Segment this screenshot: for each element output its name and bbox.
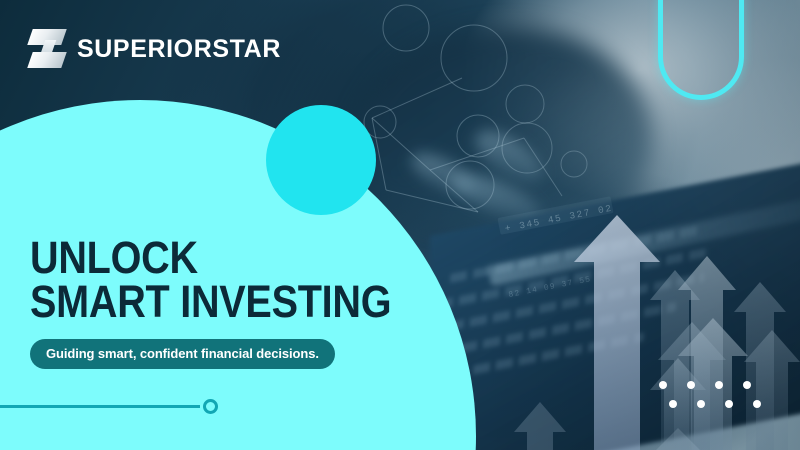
grid-dot [753, 400, 761, 408]
headline-line-2: SMART INVESTING [30, 280, 408, 324]
grid-dot [659, 381, 667, 389]
cyan-accent-circle [266, 105, 376, 215]
dot-grid-row [669, 400, 761, 408]
grid-dot [715, 381, 723, 389]
arrow-primary [574, 215, 660, 450]
grid-dot [687, 381, 695, 389]
brand-header: SUPERIORSTAR [30, 28, 281, 70]
grid-dot [697, 400, 705, 408]
accent-rule [0, 405, 200, 408]
grid-dot [725, 400, 733, 408]
brand-name: SUPERIORSTAR [77, 35, 281, 64]
grid-dot [743, 381, 751, 389]
banner-root: + 345 45 327 02 82 14 09 37 55 [0, 0, 800, 450]
hero-content: UNLOCK SMART INVESTING Guiding smart, co… [30, 236, 460, 369]
accent-rule-ring [203, 399, 218, 414]
dot-grid-decoration [659, 381, 761, 408]
grid-dot [669, 400, 677, 408]
superiorstar-logo-icon [30, 28, 64, 70]
page-title: UNLOCK SMART INVESTING [30, 236, 408, 324]
tagline-badge: Guiding smart, confident financial decis… [30, 339, 335, 369]
headline-line-1: UNLOCK [30, 236, 408, 280]
u-outline-shape [658, 0, 744, 100]
dot-grid-row [659, 381, 761, 389]
